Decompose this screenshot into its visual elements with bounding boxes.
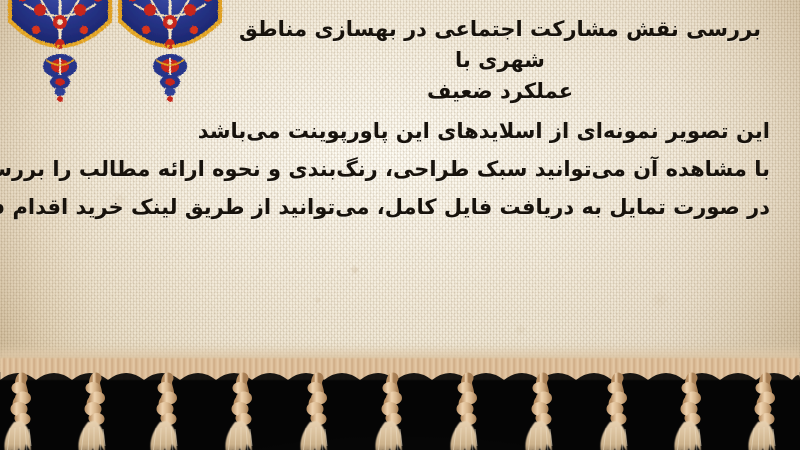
presentation-slide: بررسی نقش مشارکت اجتماعی در بهسازی مناطق… [0,0,800,450]
slide-body: این تصویر نمونه‌ای از اسلایدهای این پاور… [30,112,770,226]
slide-body-line-3: در صورت تمایل به دریافت فایل کامل، می‌تو… [30,188,770,226]
slide-body-line-2: با مشاهده آن می‌توانید سبک طراحی، رنگ‌بن… [30,150,770,188]
slide-title: بررسی نقش مشارکت اجتماعی در بهسازی مناطق… [230,14,770,107]
carpet-fringe [0,350,800,450]
slide-title-line-2: عملکرد ضعیف [427,79,573,103]
slide-title-line-1: بررسی نقش مشارکت اجتماعی در بهسازی مناطق… [239,17,761,72]
fringe-tassels-svg [0,350,800,450]
slide-body-line-1: این تصویر نمونه‌ای از اسلایدهای این پاور… [30,112,770,150]
